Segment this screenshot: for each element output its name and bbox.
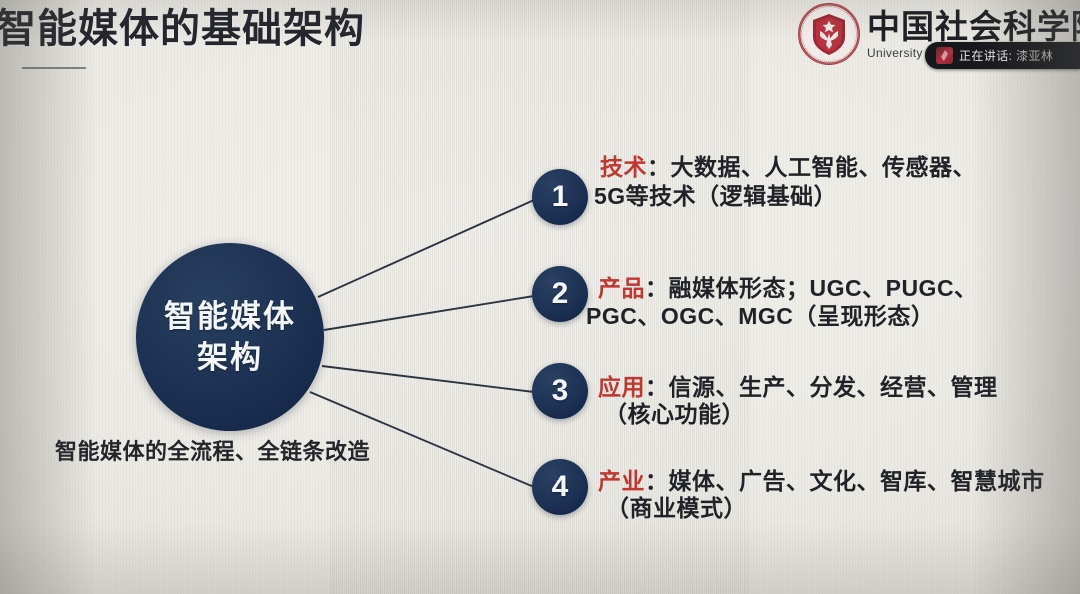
item-1-line2: 5G等技术（逻辑基础） xyxy=(594,182,976,211)
node-3-number: 3 xyxy=(552,376,569,406)
item-1-text: 技术：大数据、人工智能、传感器、 5G等技术（逻辑基础） xyxy=(600,152,976,211)
node-3: 3 xyxy=(532,363,588,419)
hub-label-line1: 智能媒体 xyxy=(164,296,296,337)
item-2-line2: PGC、OGC、MGC（呈现形态） xyxy=(586,302,978,330)
hub-caption: 智能媒体的全流程、全链条改造 xyxy=(55,437,370,467)
item-3-text: 应用：信源、生产、分发、经营、管理 （核心功能） xyxy=(598,374,998,428)
architecture-diagram: 智能媒体 架构 智能媒体的全流程、全链条改造 1 技术：大数据、人工智能、传感器… xyxy=(0,0,1080,594)
presentation-slide-capture: 智能媒体的基础架构 中国社会科学院 University 正在讲话: xyxy=(0,0,1080,594)
item-2-text: 产品：融媒体形态；UGC、PUGC、 PGC、OGC、MGC（呈现形态） xyxy=(598,275,978,330)
item-2-line1-rest: ：融媒体形态；UGC、PUGC、 xyxy=(645,275,978,301)
hub-node: 智能媒体 架构 xyxy=(136,243,324,431)
item-1-line1-rest: ：大数据、人工智能、传感器、 xyxy=(647,154,976,180)
node-2: 2 xyxy=(532,266,588,322)
item-3-keyword: 应用 xyxy=(598,374,645,400)
item-2-keyword: 产品 xyxy=(598,275,645,301)
item-4-keyword: 产业 xyxy=(598,468,645,494)
item-3-line2: （核心功能） xyxy=(604,400,998,428)
node-2-number: 2 xyxy=(552,279,569,309)
node-1-number: 1 xyxy=(552,182,569,212)
node-4-number: 4 xyxy=(552,472,569,502)
hub-label-line2: 架构 xyxy=(197,337,263,378)
item-4-line2: （商业模式） xyxy=(606,494,1045,522)
item-1-keyword: 技术 xyxy=(600,154,647,180)
node-1: 1 xyxy=(532,169,588,225)
item-3-line1-rest: ：信源、生产、分发、经营、管理 xyxy=(645,374,998,400)
item-4-line1-rest: ：媒体、广告、文化、智库、智慧城市 xyxy=(645,468,1045,494)
node-4: 4 xyxy=(532,459,588,515)
item-4-text: 产业：媒体、广告、文化、智库、智慧城市 （商业模式） xyxy=(598,468,1045,522)
